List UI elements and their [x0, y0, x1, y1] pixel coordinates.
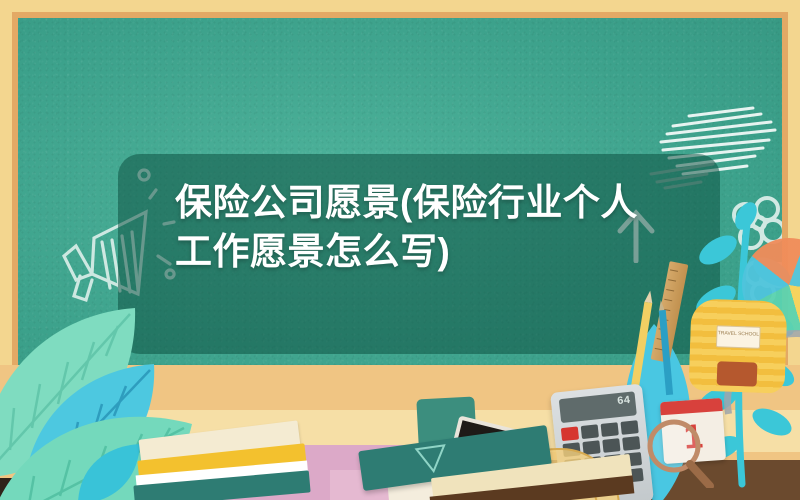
calculator-key [622, 436, 640, 451]
calculator-key [601, 422, 619, 437]
calculator-key [602, 438, 620, 453]
calculator-display: 64 [559, 391, 637, 423]
calculator-key [581, 424, 599, 439]
magnifying-glass-icon [644, 418, 714, 488]
backpack-label: TRAVEL SCHOOL [716, 325, 761, 349]
backpack-pocket [717, 361, 758, 386]
page-title: 保险公司愿景(保险行业个人工作愿景怎么写) [175, 178, 675, 276]
calculator-key [561, 426, 579, 441]
calculator-key [620, 420, 638, 435]
backpack: TRAVEL SCHOOL [688, 298, 787, 393]
poster-canvas: 保险公司愿景(保险行业个人工作愿景怎么写) [0, 0, 800, 500]
